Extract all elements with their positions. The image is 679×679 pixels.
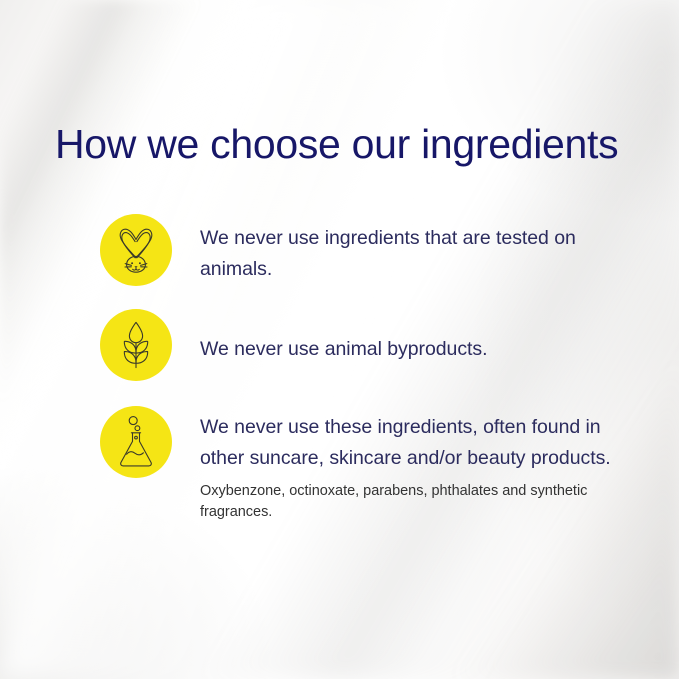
list-item-text: We never use animal byproducts. — [200, 334, 640, 365]
erlenmeyer-flask-bubbles-icon — [114, 416, 158, 468]
list-item-body: We never use these ingredients, often fo… — [200, 412, 640, 474]
plant-leaf-droplet-icon — [114, 320, 158, 370]
list-item-body: We never use animal byproducts. — [200, 334, 640, 365]
list-item-text: We never use ingredients that are tested… — [200, 223, 640, 285]
badge-no-animal-byproducts — [100, 309, 172, 381]
badge-no-harsh-chemicals — [100, 406, 172, 478]
list-item-body: We never use ingredients that are tested… — [200, 223, 640, 285]
list-item-text: We never use these ingredients, often fo… — [200, 412, 640, 523]
content-area: How we choose our ingredients — [0, 0, 679, 679]
list-item-subtext: Oxybenzone, octinoxate, parabens, phthal… — [200, 481, 640, 523]
bunny-heart-ears-icon — [113, 226, 159, 274]
badge-cruelty-free — [100, 214, 172, 286]
ingredients-info-graphic: How we choose our ingredients — [0, 0, 679, 679]
page-title: How we choose our ingredients — [55, 121, 618, 168]
